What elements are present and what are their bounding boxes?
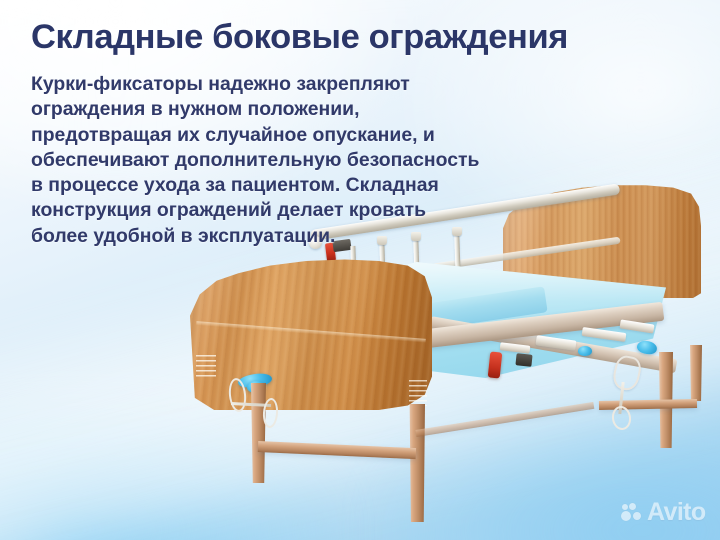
description-paragraph: Курки-фиксаторы надежно закрепляют ограж… bbox=[31, 72, 483, 249]
logo-circle-medium bbox=[633, 512, 641, 520]
avito-wordmark: Avito bbox=[647, 500, 706, 525]
banner-image: Складные боковые ограждения Курки-фиксат… bbox=[0, 0, 720, 540]
avito-circles-logo-icon bbox=[621, 503, 643, 523]
logo-circle-small-top-right bbox=[629, 503, 636, 510]
logo-circle-small-top-left bbox=[622, 504, 628, 510]
page-title: Складные боковые ограждения bbox=[31, 19, 691, 56]
logo-circle-large bbox=[621, 511, 631, 521]
avito-watermark: Avito bbox=[621, 500, 706, 525]
